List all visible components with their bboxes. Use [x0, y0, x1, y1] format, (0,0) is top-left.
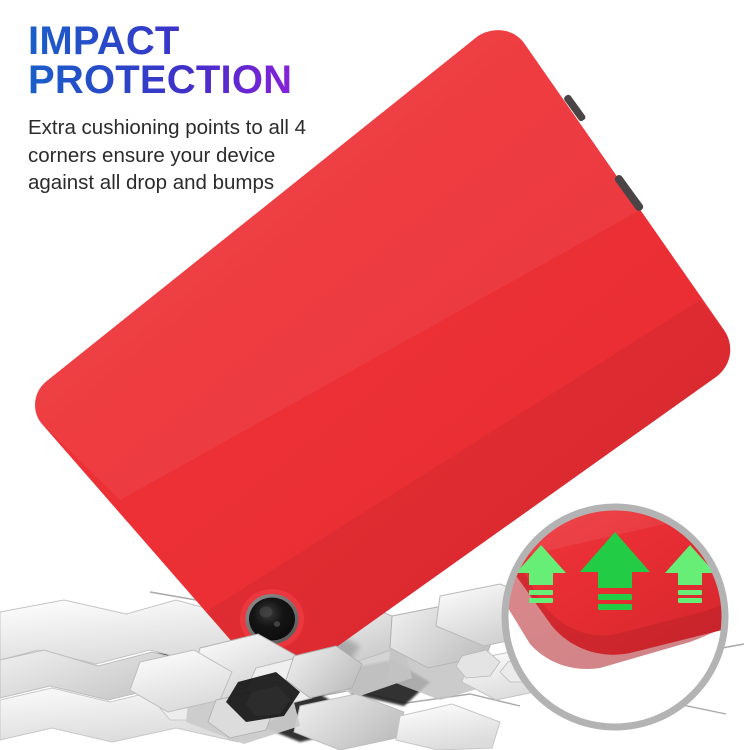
title-line-2: PROTECTION	[28, 61, 358, 100]
title-line-1: IMPACT	[28, 22, 358, 61]
page-title: IMPACT PROTECTION	[28, 22, 358, 100]
arrow-diagonal-left-small	[495, 433, 524, 462]
body-copy: Extra cushioning points to all 4 corners…	[28, 114, 320, 196]
text-block: IMPACT PROTECTION Extra cushioning point…	[28, 22, 358, 196]
inset-button-cutout	[502, 531, 532, 547]
arrow-diagonal-right-medium	[687, 454, 727, 494]
arrow-diagonal-right-small	[712, 433, 741, 462]
product-marketing-image: IMPACT PROTECTION Extra cushioning point…	[0, 0, 750, 750]
arrow-diagonal-left-medium	[509, 454, 549, 494]
